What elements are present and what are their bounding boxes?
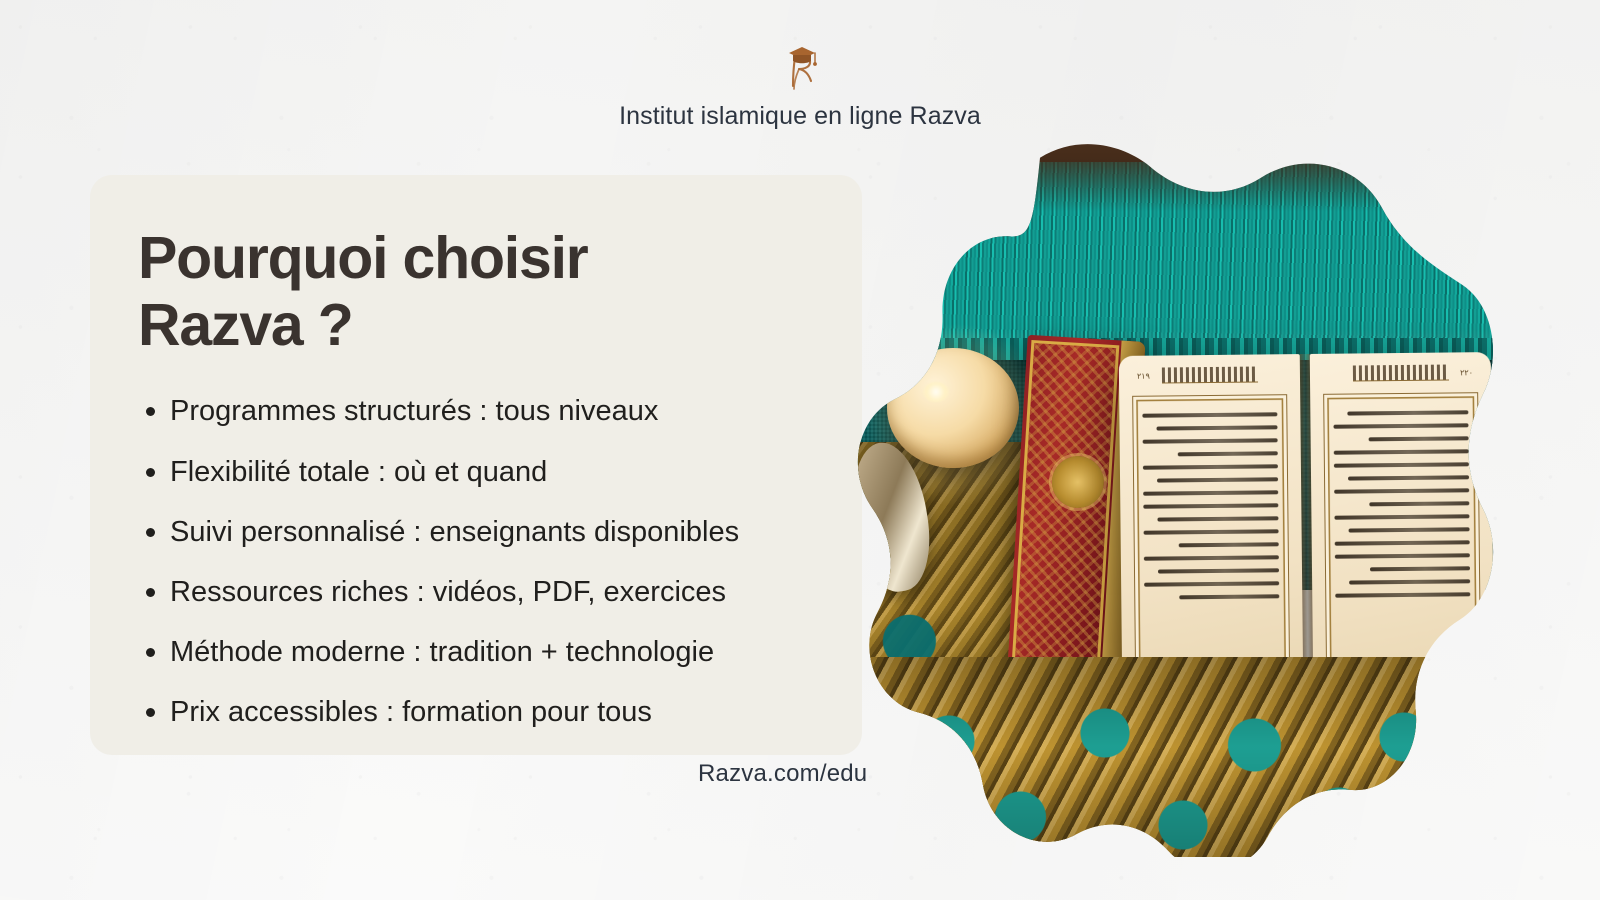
photo-inner: ٢١٩ ٢٢٠ [845, 142, 1495, 857]
rug-bottom-ornament [845, 657, 1495, 857]
bullet-dot-icon [146, 407, 155, 416]
slide-canvas: Institut islamique en ligne Razva Pourqu… [0, 0, 1600, 900]
site-url-link[interactable]: Razva.com/edu [698, 760, 867, 788]
surah-heading [1161, 367, 1257, 384]
benefit-text: Suivi personnalisé : enseignants disponi… [170, 516, 739, 548]
benefit-text: Ressources riches : vidéos, PDF, exercic… [170, 576, 726, 608]
quran-prayer-rug-photo: ٢١٩ ٢٢٠ [845, 142, 1495, 857]
benefit-text: Prix accessibles : formation pour tous [170, 696, 652, 728]
list-item: Ressources riches : vidéos, PDF, exercic… [138, 575, 822, 609]
list-item: Programmes structurés : tous niveaux [138, 394, 822, 428]
content-card: Pourquoi choisir Razva ? Programmes stru… [90, 175, 862, 755]
bullet-dot-icon [146, 588, 155, 597]
list-item: Méthode moderne : tradition + technologi… [138, 635, 822, 669]
bullet-dot-icon [146, 468, 155, 477]
candle-holder [887, 348, 1019, 468]
bullet-dot-icon [146, 708, 155, 717]
page-number: ٢٢٠ [1460, 368, 1473, 377]
benefit-text: Flexibilité totale : où et quand [170, 456, 547, 488]
graduation-cap-script-r-logo-icon [769, 36, 831, 98]
benefit-text: Programmes structurés : tous niveaux [170, 395, 658, 427]
benefits-list: Programmes structurés : tous niveaux Fle… [138, 394, 822, 729]
bullet-dot-icon [146, 648, 155, 657]
surah-heading [1352, 365, 1448, 382]
page-number: ٢١٩ [1137, 372, 1150, 381]
list-item: Prix accessibles : formation pour tous [138, 695, 822, 729]
candle-flame-icon [923, 382, 949, 402]
brand-header: Institut islamique en ligne Razva [0, 36, 1600, 131]
benefit-text: Méthode moderne : tradition + technologi… [170, 636, 714, 668]
book-medallion [1050, 455, 1105, 510]
list-item: Suivi personnalisé : enseignants disponi… [138, 515, 822, 549]
list-item: Flexibilité totale : où et quand [138, 455, 822, 489]
brand-name: Institut islamique en ligne Razva [619, 102, 981, 131]
bullet-dot-icon [146, 528, 155, 537]
page-title: Pourquoi choisir Razva ? [138, 225, 822, 358]
